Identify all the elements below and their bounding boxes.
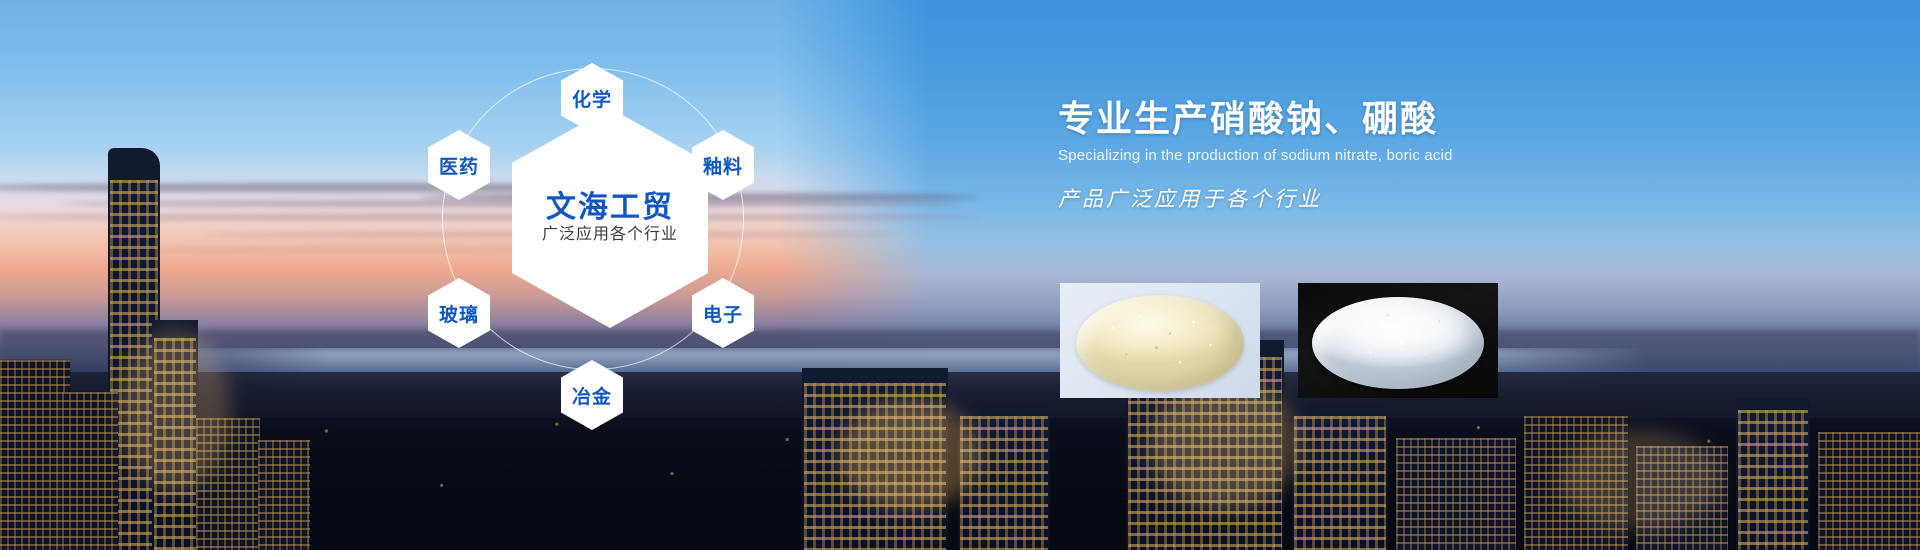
banner-copy: 专业生产硝酸钠、硼酸 Specializing in the productio… — [1058, 98, 1678, 213]
building — [1396, 438, 1516, 550]
window-glow — [1150, 380, 1300, 510]
window-glow — [120, 330, 230, 490]
building — [1818, 432, 1920, 550]
powder-grains — [1076, 295, 1244, 391]
powder-grains — [1312, 297, 1484, 389]
window-glow — [840, 400, 980, 510]
company-name: 文海工贸 — [546, 193, 674, 223]
banner-subline: Specializing in the production of sodium… — [1058, 147, 1678, 165]
promo-banner: 文海工贸 广泛应用各个行业 化学 釉料 电子 冶金 玻璃 医药 专业生产硝酸钠、… — [0, 0, 1920, 550]
skyscraper — [1292, 404, 1388, 550]
building — [62, 392, 118, 550]
window-glow — [1560, 430, 1720, 530]
banner-brushline: 产品广泛应用于各个行业 — [1058, 187, 1678, 212]
product-photo-boric-acid[interactable] — [1298, 283, 1498, 398]
banner-headline: 专业生产硝酸钠、硼酸 — [1058, 98, 1678, 139]
hex-node-metallurgy[interactable]: 冶金 — [561, 360, 623, 430]
building — [258, 440, 310, 550]
industry-hexagon-diagram: 文海工贸 广泛应用各个行业 化学 釉料 电子 冶金 玻璃 医药 — [420, 30, 800, 450]
skyscraper — [1736, 398, 1810, 550]
product-photo-sodium-nitrate[interactable] — [1060, 283, 1260, 398]
building — [0, 360, 70, 550]
company-tagline: 广泛应用各个行业 — [542, 227, 678, 243]
product-photo-group — [1060, 283, 1498, 398]
